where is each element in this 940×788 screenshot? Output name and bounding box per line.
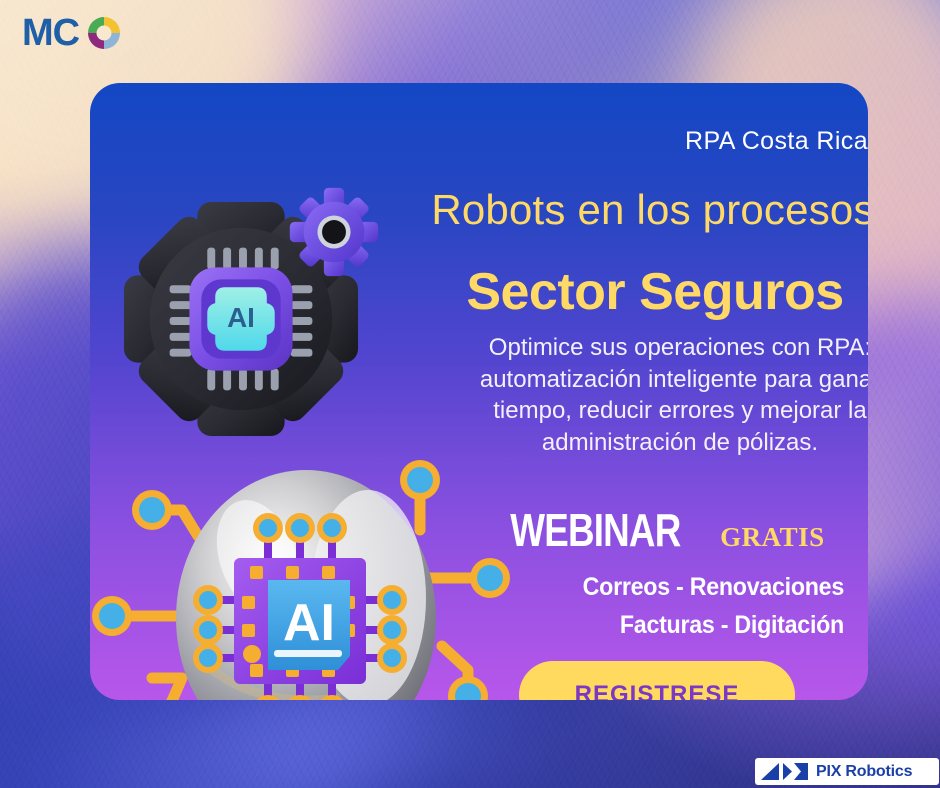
page-subtitle: Sector Seguros	[420, 264, 868, 321]
donut-segments-icon	[86, 15, 122, 51]
brand-logo: MC	[22, 14, 122, 52]
list-item[interactable]: Correos - Renovaciones	[440, 573, 868, 602]
brand-name: MC	[22, 14, 79, 52]
webinar-label: WEBINAR	[511, 503, 681, 557]
gear-ai-chip-illustration: AI	[110, 178, 410, 468]
promo-poster: MC	[0, 0, 940, 788]
webinar-heading: WEBINAR GRATIS	[420, 503, 868, 557]
promo-card: AI	[90, 83, 868, 700]
cta-container: REGISTRESE	[420, 661, 868, 700]
svg-text:AI: AI	[283, 594, 335, 652]
page-title: Robots en los procesos	[420, 187, 868, 233]
donut-svg	[86, 15, 122, 51]
card-content: RPA Costa Rica Robots en los procesos Se…	[420, 83, 868, 700]
partner-name: PIX Robotics	[816, 763, 912, 781]
small-gear-icon	[288, 186, 380, 278]
checklist-label: Correos - Renovaciones	[583, 573, 844, 602]
body-copy: Optimice sus operaciones con RPA: automa…	[468, 332, 868, 459]
svg-text:AI: AI	[227, 302, 255, 333]
gratis-badge: GRATIS	[720, 522, 825, 553]
register-button[interactable]: REGISTRESE	[519, 661, 796, 700]
pix-triangles-icon	[761, 762, 809, 781]
list-item[interactable]: Facturas - Digitación	[440, 611, 868, 640]
eyebrow-text: RPA Costa Rica	[685, 127, 868, 156]
card-inner: AI	[90, 83, 868, 700]
partner-logo: PIX Robotics	[755, 758, 939, 785]
checklist: Correos - Renovaciones Facturas - Digita…	[440, 573, 868, 649]
checklist-label: Facturas - Digitación	[620, 611, 844, 640]
